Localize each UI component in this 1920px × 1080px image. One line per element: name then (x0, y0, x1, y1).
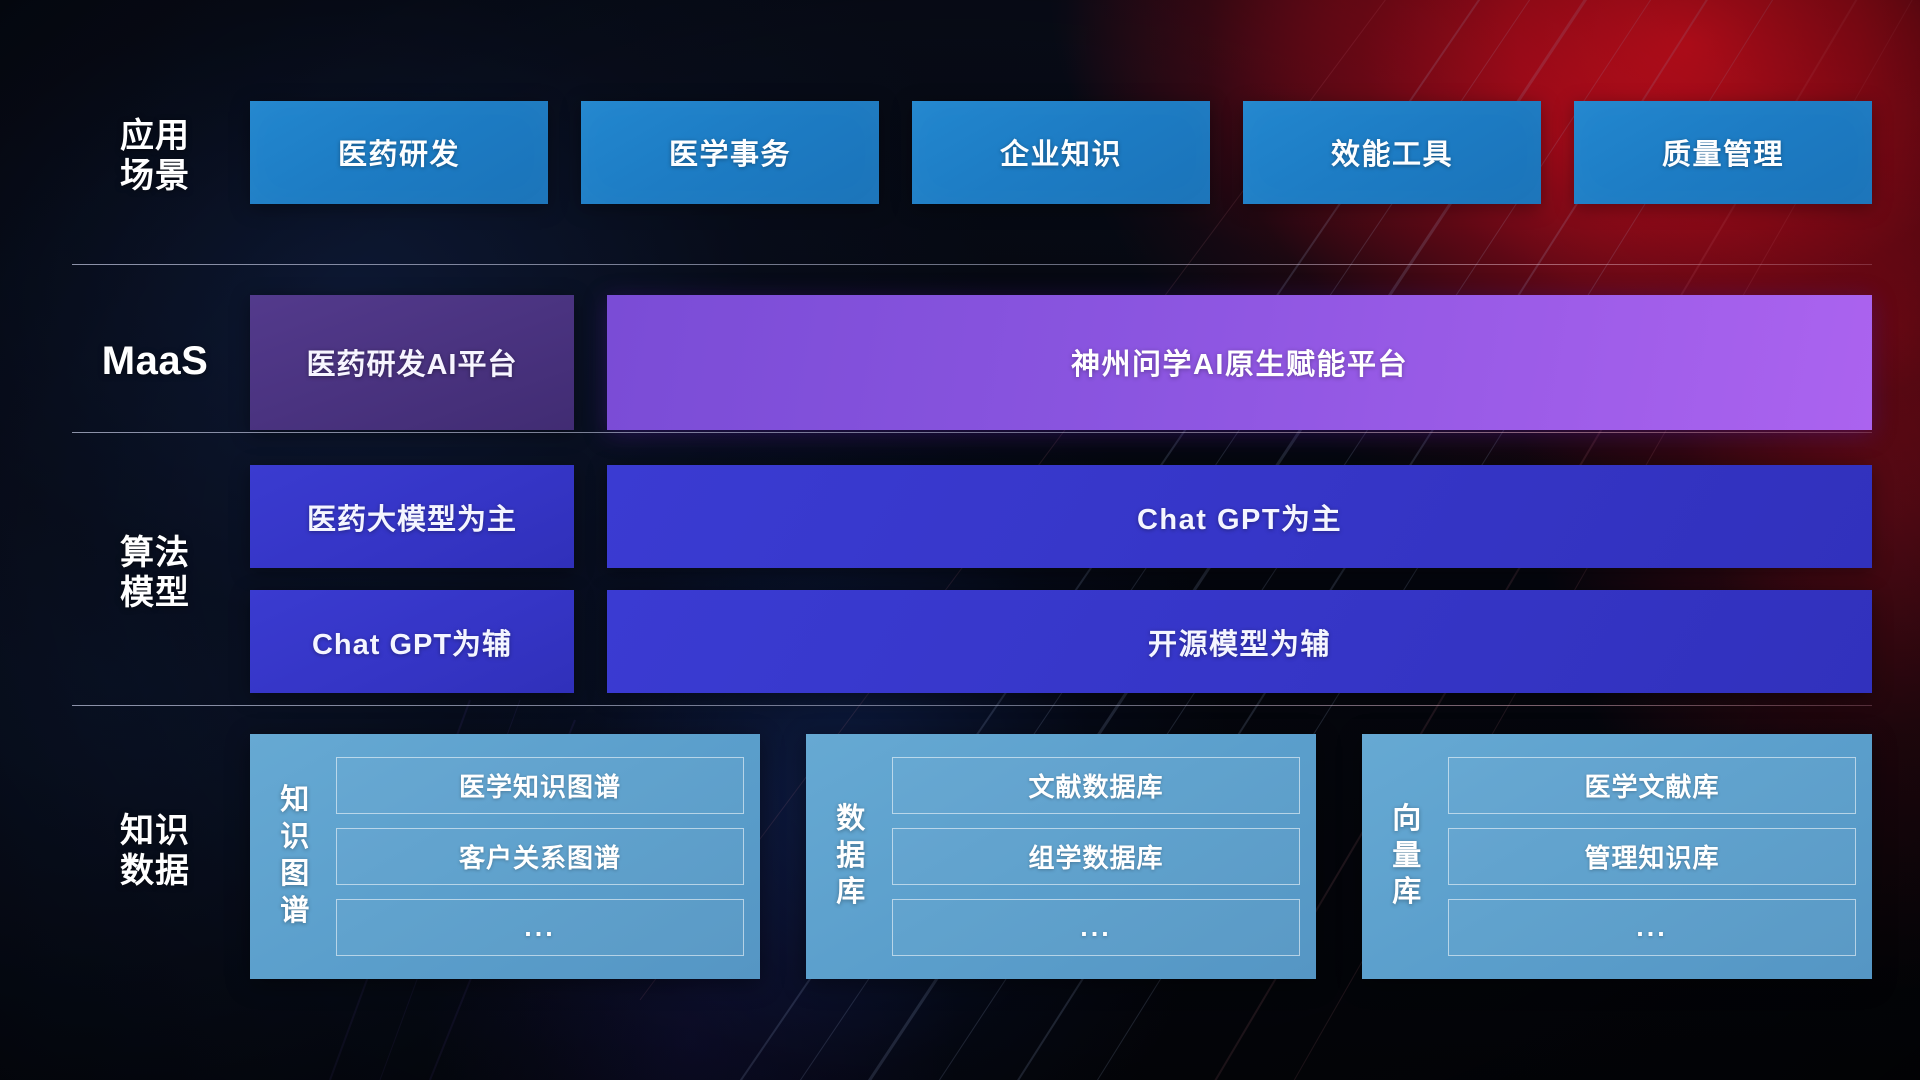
knowledge-item[interactable]: 客户关系图谱 (336, 828, 744, 885)
knowledge-item-list: 医学文献库 管理知识库 ... (1438, 748, 1856, 965)
knowledge-panel-track: 知识图谱 医学知识图谱 客户关系图谱 ... 数据库 文献数据库 组学数据库 .… (250, 734, 1872, 979)
slide-canvas: 应用 场景 医药研发 医学事务 企业知识 效能工具 (0, 0, 1920, 1080)
algorithm-card-label: 医药大模型为主 (307, 496, 517, 538)
scenario-card-quality-management[interactable]: 质量管理 (1574, 101, 1872, 204)
knowledge-panel-database[interactable]: 数据库 文献数据库 组学数据库 ... (806, 734, 1316, 979)
row-algorithm-model: 算法 模型 医药大模型为主 Chat GPT为主 Chat GPT为辅 (0, 465, 1920, 693)
scenario-card-label: 医学事务 (669, 131, 791, 173)
maas-card-pharma-ai-platform[interactable]: 医药研发AI平台 (250, 295, 574, 430)
knowledge-item-list: 医学知识图谱 客户关系图谱 ... (326, 748, 744, 965)
algorithm-card-label: Chat GPT为辅 (312, 621, 512, 663)
knowledge-item-more[interactable]: ... (892, 899, 1300, 956)
maas-card-label: 医药研发AI平台 (306, 341, 517, 383)
row-knowledge-data: 知识 数据 知识图谱 医学知识图谱 客户关系图谱 ... 数据库 (0, 733, 1920, 979)
algorithm-card-label: 开源模型为辅 (1148, 621, 1331, 663)
knowledge-panel-vertical-label: 数据库 (820, 748, 882, 965)
row-label-algorithm-model: 算法 模型 (70, 533, 240, 613)
algorithm-card-opensource-secondary[interactable]: 开源模型为辅 (607, 590, 1872, 693)
maas-track: 医药研发AI平台 神州问学AI原生赋能平台 (250, 295, 1872, 430)
scenario-card-pharma-rd[interactable]: 医药研发 (250, 101, 548, 204)
scenario-card-label: 质量管理 (1662, 131, 1784, 173)
scenario-card-medical-affairs[interactable]: 医学事务 (581, 101, 879, 204)
row-label-maas: MaaS (70, 338, 240, 385)
algorithm-card-label: Chat GPT为主 (1137, 496, 1342, 538)
knowledge-item[interactable]: 管理知识库 (1448, 828, 1856, 885)
algorithm-card-chatgpt-primary[interactable]: Chat GPT为主 (607, 465, 1872, 568)
knowledge-item-more[interactable]: ... (336, 899, 744, 956)
row-label-application-scenario: 应用 场景 (70, 116, 240, 196)
knowledge-item[interactable]: 医学知识图谱 (336, 757, 744, 814)
maas-card-shenzhou-wenxue-platform[interactable]: 神州问学AI原生赋能平台 (607, 295, 1872, 430)
row-maas: MaaS 医药研发AI平台 神州问学AI原生赋能平台 (0, 294, 1920, 430)
scenario-card-label: 企业知识 (1000, 131, 1122, 173)
knowledge-item[interactable]: 医学文献库 (1448, 757, 1856, 814)
scenario-card-enterprise-knowledge[interactable]: 企业知识 (912, 101, 1210, 204)
scenario-card-label: 效能工具 (1331, 131, 1453, 173)
algorithm-card-chatgpt-secondary[interactable]: Chat GPT为辅 (250, 590, 574, 693)
scenario-card-efficiency-tools[interactable]: 效能工具 (1243, 101, 1541, 204)
scenario-card-label: 医药研发 (338, 131, 460, 173)
row-label-knowledge-data: 知识 数据 (70, 811, 240, 891)
knowledge-item[interactable]: 组学数据库 (892, 828, 1300, 885)
knowledge-panel-knowledge-graph[interactable]: 知识图谱 医学知识图谱 客户关系图谱 ... (250, 734, 760, 979)
maas-card-label: 神州问学AI原生赋能平台 (1071, 341, 1408, 383)
algorithm-card-pharma-llm-primary[interactable]: 医药大模型为主 (250, 465, 574, 568)
divider-scenario-maas (72, 264, 1872, 265)
knowledge-item[interactable]: 文献数据库 (892, 757, 1300, 814)
scenario-card-track: 医药研发 医学事务 企业知识 效能工具 质量管理 (250, 101, 1872, 204)
algorithm-line-secondary: Chat GPT为辅 开源模型为辅 (250, 590, 1872, 693)
algorithm-track: 医药大模型为主 Chat GPT为主 Chat GPT为辅 开源模型为辅 (250, 465, 1872, 693)
knowledge-item-list: 文献数据库 组学数据库 ... (882, 748, 1300, 965)
knowledge-panel-vertical-label: 向量库 (1376, 748, 1438, 965)
algorithm-line-primary: 医药大模型为主 Chat GPT为主 (250, 465, 1872, 568)
divider-maas-algorithm (72, 432, 1872, 433)
divider-algorithm-knowledge (72, 705, 1872, 706)
knowledge-panel-vertical-label: 知识图谱 (264, 748, 326, 965)
row-application-scenario: 应用 场景 医药研发 医学事务 企业知识 效能工具 (0, 100, 1920, 204)
knowledge-panel-vector-store[interactable]: 向量库 医学文献库 管理知识库 ... (1362, 734, 1872, 979)
knowledge-item-more[interactable]: ... (1448, 899, 1856, 956)
